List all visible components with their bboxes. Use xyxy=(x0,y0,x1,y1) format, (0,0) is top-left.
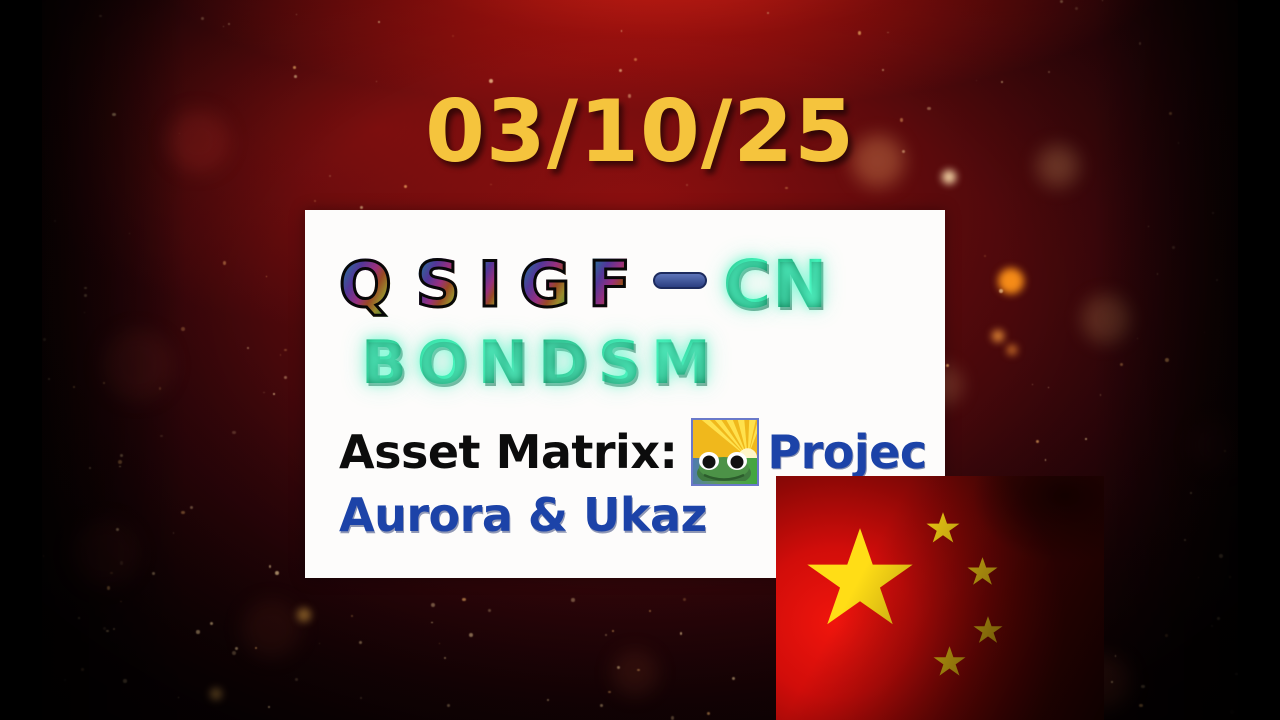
letterbox-bar-right xyxy=(1238,0,1280,720)
flag-star-small xyxy=(973,616,1003,645)
flag-star-small xyxy=(926,512,960,545)
title-letter-g: G xyxy=(519,248,572,321)
subtitle-prefix: Asset Matrix: xyxy=(339,425,677,479)
pepe-sunrise-icon xyxy=(691,418,759,486)
title-letter-s: S xyxy=(416,248,463,321)
title-letter-f: F xyxy=(588,248,632,321)
title-letters-cn: CN xyxy=(723,246,829,323)
date-overlay: 03/10/25 xyxy=(42,82,1238,182)
video-player-stage: 03/10/25 Q S I G F CN BONDSM Asset Matri… xyxy=(0,0,1280,720)
bokeh-orb xyxy=(210,688,222,700)
bokeh-blob xyxy=(1082,295,1130,343)
bokeh-orb xyxy=(998,268,1024,294)
subtitle-suffix: Projec xyxy=(767,425,926,479)
bokeh-orb xyxy=(297,608,311,622)
title-letter-q: Q xyxy=(339,248,394,321)
card-byline: Aurora & Ukaz xyxy=(339,488,707,542)
title-dash-icon xyxy=(653,272,707,289)
flag-star-small xyxy=(967,557,998,587)
flag-star-small xyxy=(933,646,966,678)
date-label: 03/10/25 xyxy=(425,82,855,182)
card-title-line2: BONDSM xyxy=(361,328,721,398)
title-letter-i: I xyxy=(478,248,503,321)
bokeh-blob xyxy=(1192,420,1238,470)
bokeh-blob xyxy=(612,650,658,696)
bokeh-orb xyxy=(1007,345,1017,355)
bokeh-blob xyxy=(102,330,172,400)
bokeh-blob xyxy=(242,600,300,658)
flag-star-large xyxy=(806,528,914,632)
china-flag-overlay xyxy=(776,476,1104,720)
card-title-line1: Q S I G F CN xyxy=(339,246,945,323)
bokeh-orb xyxy=(992,330,1004,342)
bokeh-blob xyxy=(72,520,138,586)
letterbox-bar-left xyxy=(0,0,42,720)
